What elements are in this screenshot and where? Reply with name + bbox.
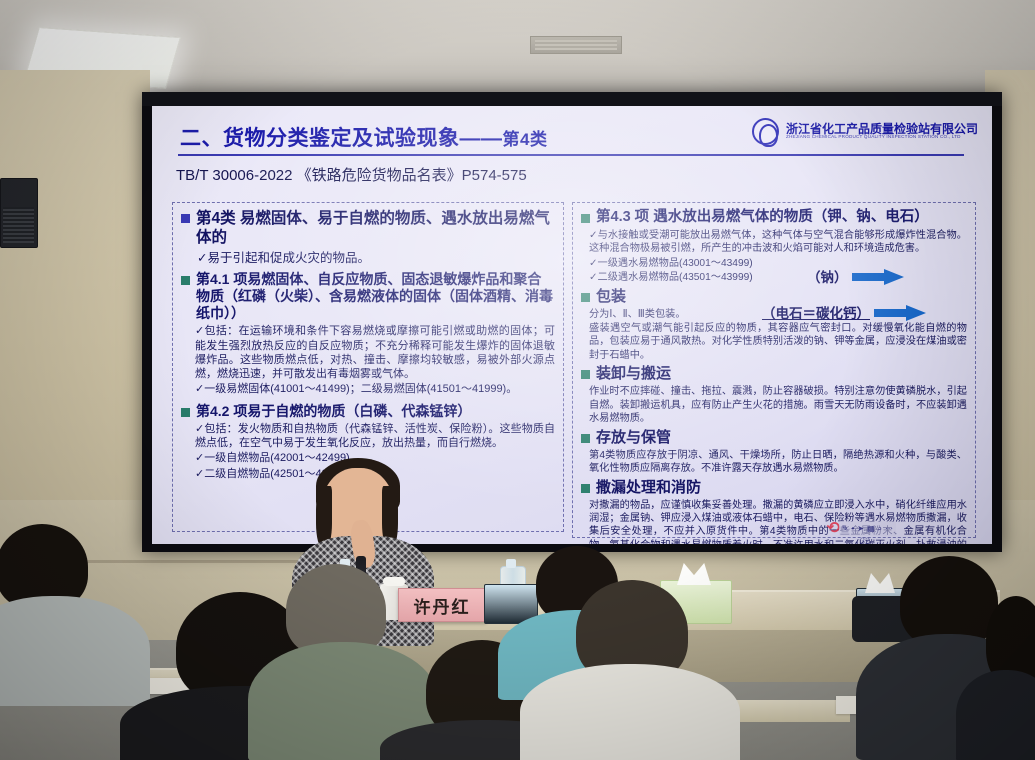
arrow-right-icon [874, 305, 926, 320]
slide-number: 32 [860, 536, 870, 544]
class4-note: ✓易于引起和促成火灾的物品。 [197, 250, 555, 266]
slide-thumbnails-icon[interactable]: ▦ [867, 524, 875, 533]
item43-label: 第4.3 项 遇水放出易燃气体的物质（钾、钠、电石） [596, 209, 929, 227]
company-emblem-icon [752, 118, 779, 145]
bullet-item-41: 第4.1 项易燃固体、自反应物质、固态退敏爆炸品和聚合物质（红磷（火柴）、含易燃… [181, 271, 555, 322]
zoom-icon[interactable]: ⌕ [878, 524, 882, 534]
nameplate-text: 许丹红 [414, 593, 471, 618]
company-logo: 浙江省化工产品质量检验站有限公司 ZHEJIANG CHEMICAL PRODU… [752, 118, 978, 145]
nameplate: 许丹红 [398, 588, 486, 622]
storage-body: 第4类物质应存放于阴凉、通风、干燥场所，防止日晒，隔绝热源和火种，与酸类、氧化性… [589, 449, 967, 476]
square-bullet-icon [581, 370, 590, 379]
bullet-spill: 撒漏处理和消防 [581, 479, 967, 497]
callout-carbide-label: （电石＝碳化钙） [762, 302, 870, 322]
spill-body: 对撒漏的物品，应谨慎收集妥善处理。撒漏的黄磷应立即浸入水中，硝化纤维应用水润湿；… [589, 499, 967, 544]
square-bullet-icon [181, 214, 190, 223]
item42-body: ✓包括：发火物质和自热物质（代森锰锌、活性炭、保险粉）。这些物质自燃点低，在空气… [195, 422, 555, 451]
item42-grade1-text: 一级自燃物品(42001～42499) [204, 452, 350, 464]
square-bullet-icon [181, 408, 190, 417]
item41-grades: ✓一级易燃固体(41001～41499)；二级易燃固体(41501～41999)… [195, 382, 555, 396]
packaging-heading: 包装 [596, 288, 626, 306]
ceiling-air-vent [530, 36, 622, 54]
square-bullet-icon [581, 293, 590, 302]
projection-screen-top-bar [142, 92, 1002, 106]
powerpoint-slide[interactable]: 二、货物分类鉴定及试验现象——第4类 浙江省化工产品质量检验站有限公司 ZHEJ… [152, 106, 992, 544]
item41-grades-text: 一级易燃固体(41001～41499)；二级易燃固体(41501～41999)。 [204, 383, 517, 395]
presenter-toolbar[interactable]: ✎ • ➤ ▦ ⌕ ⋯ [839, 521, 896, 536]
handling-heading: 装卸与搬运 [596, 365, 671, 383]
item41-label: 第4.1 项易燃固体、自反应物质、固态退敏爆炸品和聚合物质（红磷（火柴）、含易燃… [196, 271, 555, 322]
pointer-icon[interactable]: ➤ [857, 524, 864, 533]
square-bullet-icon [581, 484, 590, 493]
bullet-storage: 存放与保管 [581, 429, 967, 447]
callout-sodium: （钠） [807, 266, 904, 286]
slide-title-main: 二、货物分类鉴定及试验现象—— [180, 127, 503, 150]
class4-heading: 第4类 易燃固体、易于自燃的物质、遇水放出易燃气体的 [196, 209, 555, 248]
wall-speaker [0, 178, 38, 248]
storage-heading: 存放与保管 [596, 429, 671, 447]
item41-body: ✓包括：在运输环境和条件下容易燃烧或摩擦可能引燃或助燃的固体；可能发生强烈放热反… [195, 324, 555, 381]
item43-grade1-text: 一级遇水易燃物品(43001～43499) [598, 258, 753, 269]
ink-annotation-mark: ⟲ [827, 518, 840, 538]
item42-label: 第4.2 项易于自燃的物质（白磷、代森锰锌） [196, 403, 471, 420]
item41-body-text: 包括：在运输环境和条件下容易燃烧或摩擦可能引燃或助燃的固体；可能发生强烈放热反应… [195, 325, 555, 380]
classroom-scene: 二、货物分类鉴定及试验现象——第4类 浙江省化工产品质量检验站有限公司 ZHEJ… [0, 0, 1035, 760]
class4-note-text: 易于引起和促成火灾的物品。 [207, 251, 370, 265]
item43-body-text: 与水接触或受潮可能放出易燃气体，这种气体与空气混合能够形成爆炸性混合物。这种混合… [589, 230, 967, 254]
pen-icon[interactable]: ✎ [842, 524, 849, 533]
item43-body: ✓与水接触或受潮可能放出易燃气体，这种气体与空气混合能够形成爆炸性混合物。这种混… [589, 229, 967, 256]
dot-icon[interactable]: • [851, 524, 854, 533]
packaging-line2: 盛装遇空气或潮气能引起反应的物质，其容器应气密封口。对缓慢氧化能自燃的物品，包装… [589, 322, 967, 362]
item43-grade2-text: 二级遇水易燃物品(43501～43999) [598, 272, 753, 283]
square-bullet-icon [581, 214, 590, 223]
item43-grade2: ✓二级遇水易燃物品(43501～43999) [589, 271, 967, 284]
company-name-en: ZHEJIANG CHEMICAL PRODUCT QUALITY INSPEC… [786, 135, 978, 140]
callout-sodium-label: （钠） [807, 266, 848, 286]
document-reference: TB/T 30006-2022 《铁路危险货物品名表》P574-575 [176, 164, 527, 185]
callout-carbide: （电石＝碳化钙） [762, 302, 926, 322]
bullet-item-43: 第4.3 项 遇水放出易燃气体的物质（钾、钠、电石） [581, 209, 967, 227]
slide-title-suffix: 第4类 [503, 130, 548, 149]
item43-grade1: ✓一级遇水易燃物品(43001～43499) [589, 257, 967, 270]
slide-right-column: 第4.3 项 遇水放出易燃气体的物质（钾、钠、电石） ✓与水接触或受潮可能放出易… [572, 202, 976, 538]
bullet-item-42: 第4.2 项易于自燃的物质（白磷、代森锰锌） [181, 403, 555, 420]
square-bullet-icon [181, 276, 190, 285]
square-bullet-icon [581, 434, 590, 443]
spill-heading: 撒漏处理和消防 [596, 479, 701, 497]
more-options-icon[interactable]: ⋯ [885, 524, 893, 533]
item42-body-text: 包括：发火物质和自热物质（代森锰锌、活性炭、保险粉）。这些物质自燃点低，在空气中… [195, 423, 555, 449]
arrow-right-icon [852, 269, 904, 284]
bullet-handling: 装卸与搬运 [581, 365, 967, 383]
handling-body: 作业时不应摔碰、撞击、拖拉、震溅，防止容器破损。特别注意勿使黄磷脱水，引起自燃。… [589, 385, 967, 425]
title-underline-rule [178, 154, 964, 156]
bullet-class4: 第4类 易燃固体、易于自燃的物质、遇水放出易燃气体的 [181, 209, 555, 248]
